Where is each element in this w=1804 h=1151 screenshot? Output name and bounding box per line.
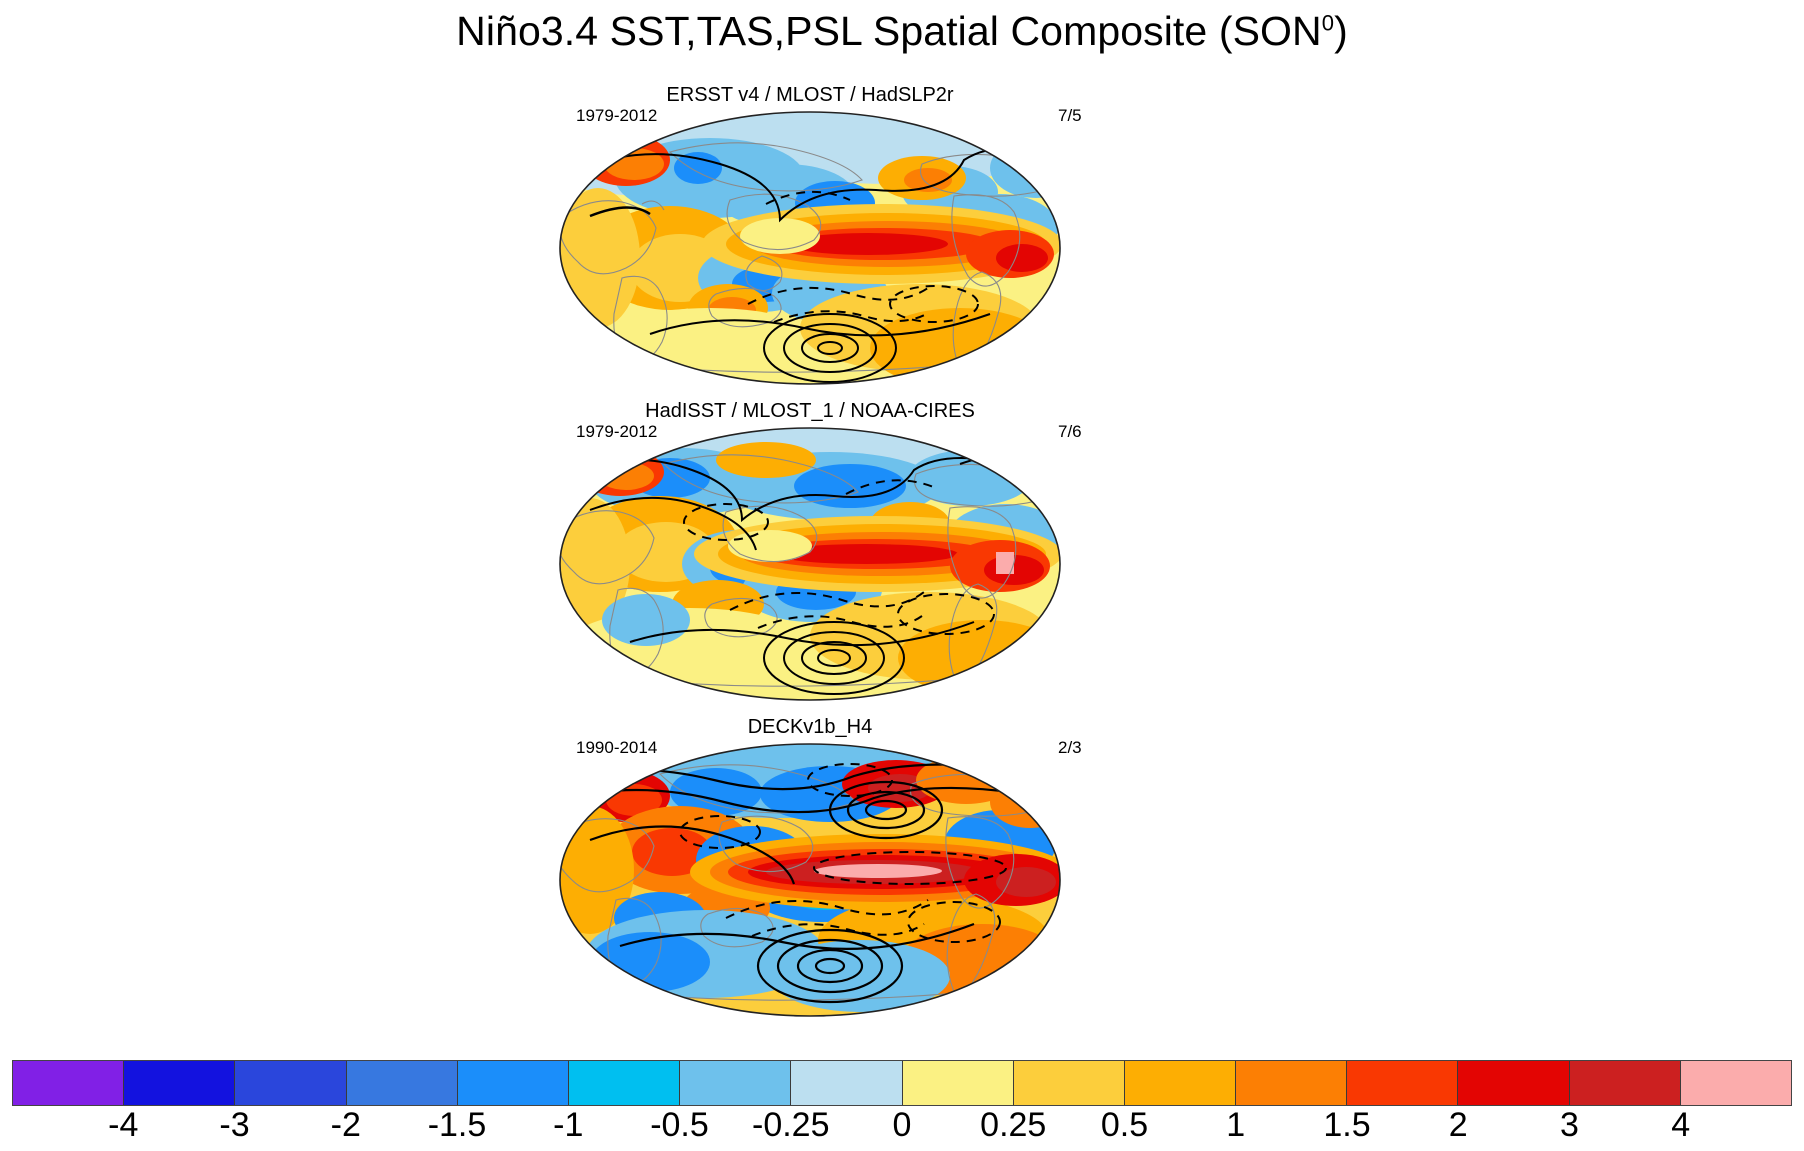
colorbar-tick-_0_25: -0.25 (752, 1106, 830, 1145)
colorbar-tick-4: 4 (1671, 1106, 1690, 1145)
colorbar-tick-2: 2 (1449, 1106, 1468, 1145)
figure-title-main: Niño3.4 SST,TAS,PSL Spatial Composite (S… (456, 8, 1322, 54)
colorbar-tick-0: 0 (893, 1106, 912, 1145)
panel-1-svg (530, 108, 1090, 388)
figure-title-close: ) (1334, 8, 1348, 54)
colorbar-tick-3: 3 (1560, 1106, 1579, 1145)
colorbar-segment-14 (1570, 1061, 1681, 1105)
colorbar-segment-1 (124, 1061, 235, 1105)
colorbar-tick-_1_5: -1.5 (428, 1106, 487, 1145)
panel-1-map (530, 108, 1090, 388)
colorbar-tick-0_25: 0.25 (980, 1106, 1046, 1145)
colorbar-segment-10 (1125, 1061, 1236, 1105)
panel-2-field (530, 406, 1090, 704)
colorbar-tick-1: 1 (1226, 1106, 1245, 1145)
colorbar-tick-_2: -2 (331, 1106, 361, 1145)
colorbar-strip (12, 1060, 1792, 1106)
panel-1-field (520, 92, 1090, 388)
panel-2-map (530, 424, 1090, 704)
panel-2-title: HadISST / MLOST_1 / NOAA-CIRES (530, 400, 1090, 423)
panel-1-title: ERSST v4 / MLOST / HadSLP2r (530, 84, 1090, 107)
colorbar-segment-0 (13, 1061, 124, 1105)
figure-root: Niño3.4 SST,TAS,PSL Spatial Composite (S… (0, 0, 1804, 1151)
colorbar-tick-0_5: 0.5 (1101, 1106, 1148, 1145)
colorbar-tick-_1: -1 (553, 1106, 583, 1145)
colorbar-segment-3 (347, 1061, 458, 1105)
colorbar-segment-11 (1236, 1061, 1347, 1105)
colorbar-tick-labels: -4-3-2-1.5-1-0.5-0.2500.250.511.5234 (12, 1106, 1792, 1150)
colorbar-segment-6 (680, 1061, 791, 1105)
colorbar-segment-13 (1458, 1061, 1569, 1105)
colorbar-segment-8 (903, 1061, 1014, 1105)
figure-title-superscript: 0 (1322, 10, 1334, 35)
colorbar (12, 1060, 1792, 1106)
colorbar-segment-9 (1014, 1061, 1125, 1105)
colorbar-tick-1_5: 1.5 (1323, 1106, 1370, 1145)
colorbar-tick-_3: -3 (219, 1106, 249, 1145)
colorbar-segment-15 (1681, 1061, 1791, 1105)
panel-2-svg (530, 424, 1090, 704)
colorbar-segment-5 (569, 1061, 680, 1105)
colorbar-segment-2 (235, 1061, 346, 1105)
colorbar-tick-_0_5: -0.5 (650, 1106, 709, 1145)
colorbar-tick-_4: -4 (108, 1106, 138, 1145)
panel-3-title: DECKv1b_H4 (530, 716, 1090, 739)
panel-3-field (530, 722, 1090, 1020)
panel-3-svg (530, 740, 1090, 1020)
figure-title: Niño3.4 SST,TAS,PSL Spatial Composite (S… (0, 8, 1804, 55)
colorbar-segment-12 (1347, 1061, 1458, 1105)
colorbar-segment-7 (791, 1061, 902, 1105)
panel-3-map (530, 740, 1090, 1020)
colorbar-segment-4 (458, 1061, 569, 1105)
